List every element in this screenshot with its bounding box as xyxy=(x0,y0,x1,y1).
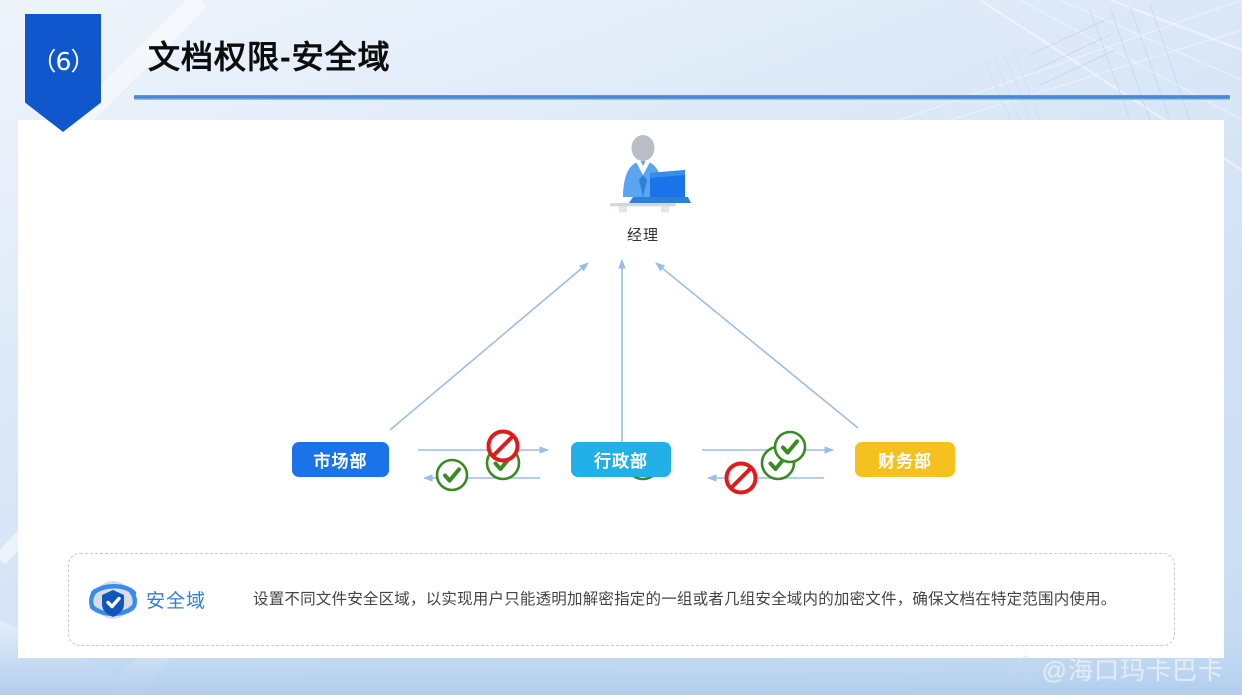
manager-node: 经理 xyxy=(578,135,708,245)
manager-label: 经理 xyxy=(578,224,708,245)
dept-box-finance[interactable]: 财务部 xyxy=(855,442,955,477)
content-panel: 经理 市场部 行政部 财务部 安全域 设置不同文件安全区 xyxy=(18,120,1224,658)
security-domain-shield-icon xyxy=(87,575,139,625)
section-number-badge: （6） xyxy=(25,14,101,132)
manager-person-laptop-icon xyxy=(593,135,693,217)
security-domain-label: 安全域 xyxy=(146,586,206,613)
svg-text:du: du xyxy=(1019,675,1028,683)
permission-diagram: 经理 市场部 行政部 财务部 xyxy=(18,120,1224,540)
check-circle-icon-admin-to-finance xyxy=(775,432,805,462)
slide-root: （6） 文档权限-安全域 xyxy=(0,0,1242,695)
slide-header: （6） 文档权限-安全域 xyxy=(0,0,1242,120)
title-underline-rule xyxy=(134,95,1230,100)
security-domain-badge: 安全域 xyxy=(87,575,247,625)
arrow-finance-to-manager xyxy=(656,263,858,428)
page-title: 文档权限-安全域 xyxy=(148,32,391,78)
baidu-paw-icon: du xyxy=(1009,654,1039,684)
arrow-market-to-manager xyxy=(390,263,588,430)
forbidden-icon-market-to-admin xyxy=(489,432,518,461)
check-circle-icon-admin-to-market xyxy=(437,460,467,490)
dept-box-admin[interactable]: 行政部 xyxy=(571,442,671,477)
dept-box-market[interactable]: 市场部 xyxy=(292,442,389,477)
forbidden-icon-finance-to-admin xyxy=(727,464,756,493)
description-box: 安全域 设置不同文件安全区域，以实现用户只能透明加解密指定的一组或者几组安全域内… xyxy=(68,553,1175,646)
section-number-text: （6） xyxy=(32,42,95,78)
description-text: 设置不同文件安全区域，以实现用户只能透明加解密指定的一组或者几组安全域内的加密文… xyxy=(253,587,1156,612)
